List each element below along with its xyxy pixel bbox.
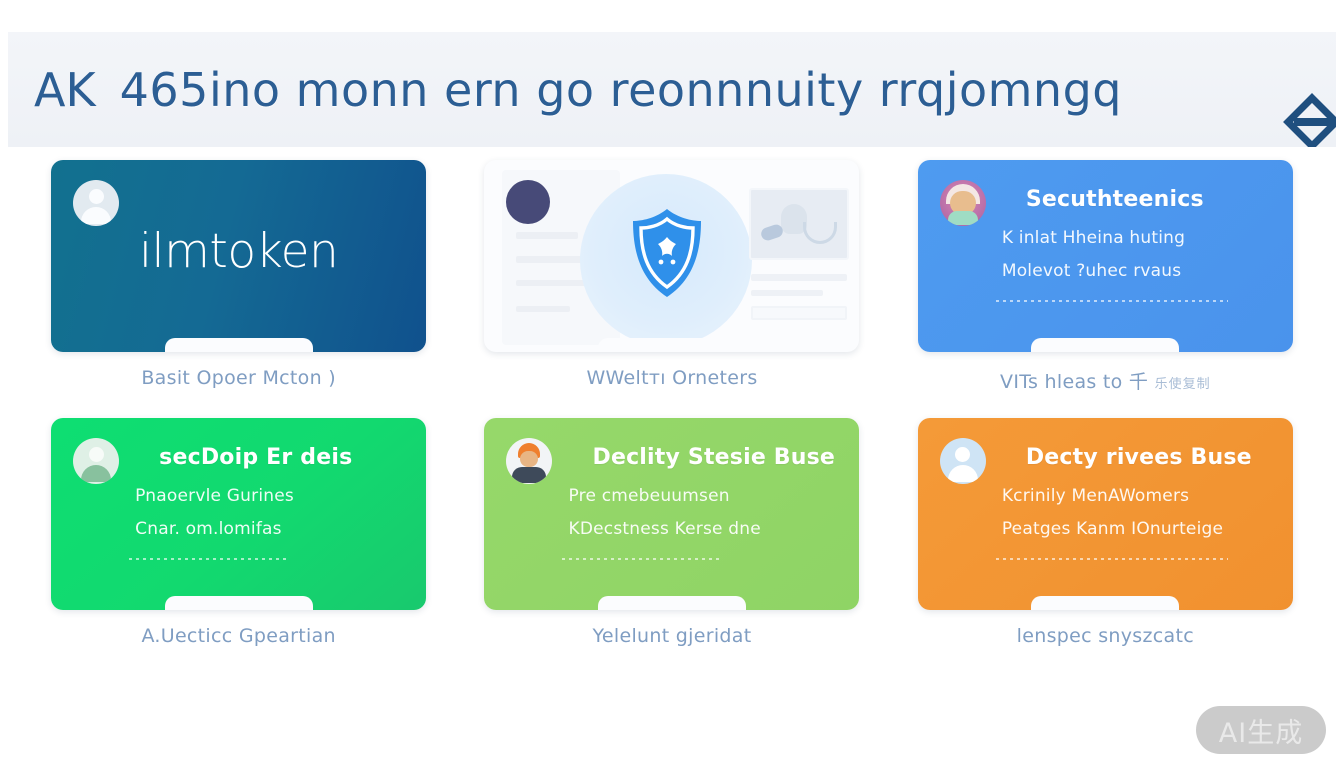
diamond-arrow-icon[interactable] xyxy=(1280,90,1336,147)
card-green[interactable]: secDoip Er deis Pnaoervle Gurines Cnar. … xyxy=(51,418,426,610)
shield-icon xyxy=(628,207,706,299)
page-title: 465ino monn ern go reonnnuity rrqjomngq xyxy=(120,63,1122,117)
card-caption: WWeltтı Orneters xyxy=(586,367,757,389)
grid-cell: WWeltтı Orneters xyxy=(455,160,888,394)
card-notch xyxy=(1031,338,1179,352)
card-line-2: Molevot ?uhec rvaus xyxy=(1002,261,1181,281)
card-notch xyxy=(165,338,313,352)
card-caption: A.Uecticc Gpeartian xyxy=(141,625,335,647)
card-line-1: Pre cmebeuumsen xyxy=(568,486,729,506)
dashed-divider xyxy=(996,300,1228,302)
card-title: Decty rivees Buse xyxy=(1026,445,1252,470)
card-line-2: Peatges Kanm IOnurteige xyxy=(1002,519,1223,539)
dashed-divider xyxy=(562,558,722,560)
page-header: AK 465ino monn ern go reonnnuity rrqjomn… xyxy=(8,32,1336,147)
card-notch xyxy=(1031,596,1179,610)
card-title: secDoip Er deis xyxy=(159,445,352,470)
person-blue-avatar xyxy=(940,438,986,484)
card-lightgreen[interactable]: Declity Stesie Buse Pre cmebeuumsen KDec… xyxy=(484,418,859,610)
card-notch xyxy=(165,596,313,610)
card-caption-main: VITs hleas to 千 xyxy=(1000,371,1148,393)
page-root: AK 465ino monn ern go reonnnuity rrqjomn… xyxy=(0,0,1344,768)
card-ilmtoken[interactable]: ilmtoken xyxy=(51,160,426,352)
card-caption: VITs hleas to 千 乐使复制 xyxy=(1000,367,1211,394)
card-line-2: Cnar. om.lomifas xyxy=(135,519,282,539)
placeholder-panel-right xyxy=(749,188,849,333)
grid-cell: Decty rivees Buse Kcrinily MenAWomers Pe… xyxy=(889,418,1322,647)
placeholder-bar xyxy=(516,232,578,239)
card-security[interactable]: Secuthteenics K inlat Hheina huting Mole… xyxy=(918,160,1293,352)
placeholder-bar xyxy=(516,306,570,312)
user-shield-avatar xyxy=(73,180,119,226)
card-caption: lenspec snyszcatc xyxy=(1017,625,1194,647)
card-line-1: K inlat Hheina huting xyxy=(1002,228,1185,248)
person-green-avatar xyxy=(73,438,119,484)
ai-generated-watermark: AI生成 xyxy=(1196,706,1326,754)
card-caption-sub: 乐使复制 xyxy=(1155,377,1211,392)
card-title: Declity Stesie Buse xyxy=(592,445,835,470)
card-notch xyxy=(598,338,746,352)
image-placeholder xyxy=(749,188,849,260)
card-orange[interactable]: Decty rivees Buse Kcrinily MenAWomers Pe… xyxy=(918,418,1293,610)
card-grid: ilmtoken Basit Oроer Мcton ) xyxy=(0,160,1344,647)
card-notch xyxy=(598,596,746,610)
woman-avatar xyxy=(940,180,986,226)
grid-cell: Declity Stesie Buse Pre cmebeuumsen KDec… xyxy=(455,418,888,647)
card-caption: Basit Oроer Мcton ) xyxy=(141,367,336,389)
card-line-1: Kcrinily MenAWomers xyxy=(1002,486,1189,506)
dashed-divider xyxy=(996,558,1228,560)
dashed-divider xyxy=(129,558,289,560)
card-line-1: Pnaoervle Gurines xyxy=(135,486,294,506)
header-badge: AK xyxy=(34,63,96,117)
grid-cell: secDoip Er deis Pnaoervle Gurines Cnar. … xyxy=(22,418,455,647)
person-orange-hair-avatar xyxy=(506,438,552,484)
brand-wordmark: ilmtoken xyxy=(139,224,338,279)
grid-cell: Secuthteenics K inlat Hheina huting Mole… xyxy=(889,160,1322,394)
card-shield[interactable] xyxy=(484,160,859,352)
grid-cell: ilmtoken Basit Oроer Мcton ) xyxy=(22,160,455,394)
card-line-2: KDecstness Kerse dne xyxy=(568,519,760,539)
card-caption: Yelelunt gjeridat xyxy=(593,625,752,647)
placeholder-bar xyxy=(516,280,586,286)
card-title: Secuthteenics xyxy=(1026,187,1204,212)
